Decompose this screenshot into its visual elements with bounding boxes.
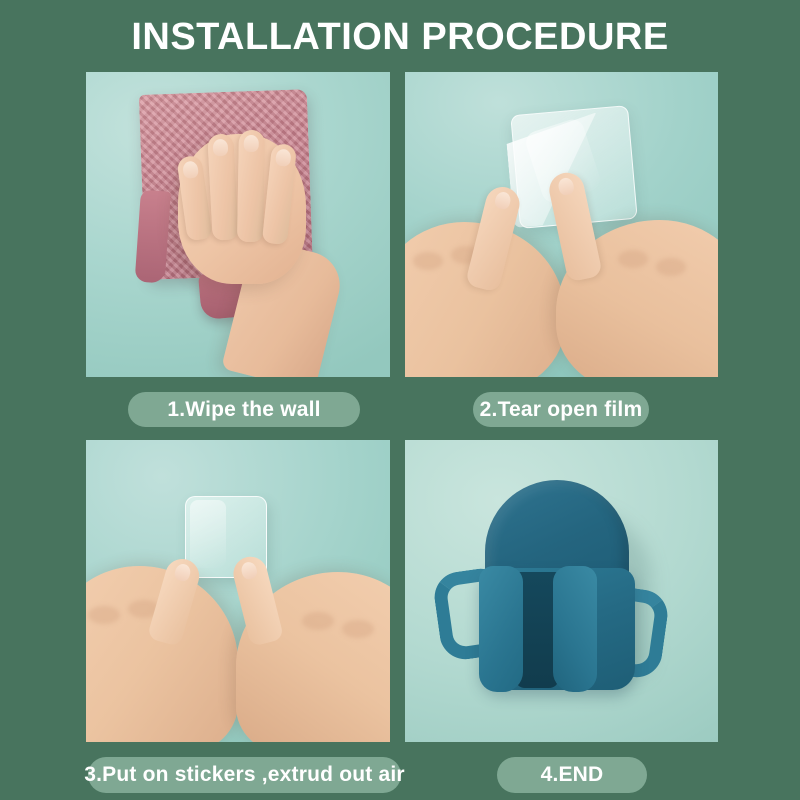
thumbnail <box>240 560 259 580</box>
step-3-caption: 3.Put on stickers ,extrud out air <box>88 757 401 793</box>
knuckle <box>302 612 334 630</box>
thumbnail <box>493 190 512 210</box>
step-4-illustration <box>405 440 718 742</box>
page-title: INSTALLATION PROCEDURE <box>0 14 800 60</box>
pocket-right-wall <box>553 566 597 692</box>
step-2-illustration <box>405 72 718 377</box>
step-3-illustration <box>86 440 390 742</box>
thumbnail <box>556 177 574 197</box>
knuckle <box>618 250 648 268</box>
step-1-illustration <box>86 72 390 377</box>
step-panel-1 <box>86 72 390 377</box>
knuckle <box>88 606 120 624</box>
knuckle <box>413 252 443 270</box>
step-1-caption: 1.Wipe the wall <box>128 392 360 427</box>
step-panel-3 <box>86 440 390 742</box>
finger <box>237 130 265 242</box>
knuckle <box>656 258 686 276</box>
pocket-left-wall <box>479 566 523 692</box>
fingernail <box>181 160 198 179</box>
hand <box>86 72 390 377</box>
fingernail <box>274 148 291 166</box>
step-panel-4 <box>405 440 718 742</box>
fingernail <box>244 135 259 152</box>
sticker-highlight <box>190 500 226 568</box>
knuckle <box>342 620 374 638</box>
step-2-caption: 2.Tear open film <box>473 392 649 427</box>
fingernail <box>212 139 228 157</box>
finger <box>207 133 239 240</box>
thumbnail <box>173 562 192 582</box>
step-panel-2 <box>405 72 718 377</box>
step-4-caption: 4.END <box>497 757 647 793</box>
